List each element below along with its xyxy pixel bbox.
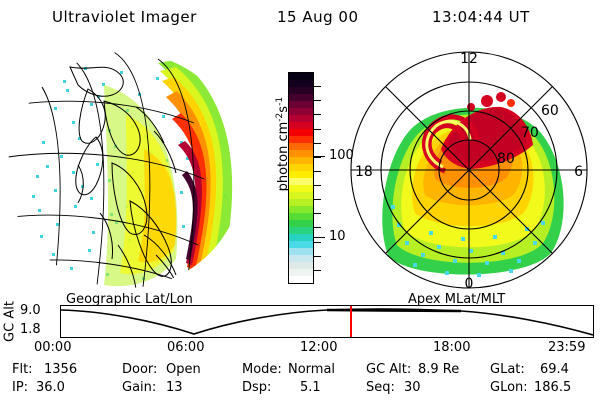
colorbar-minor-tick-12 [314,242,321,243]
colorbar-minor-tick-14 [314,270,321,271]
colorbar-band-10 [289,143,313,150]
colorbar-band-25 [289,248,313,255]
observation-date: 15 Aug 00 [277,8,359,26]
status-seq-value: 30 [404,380,421,395]
colorbar-minor-tick-9 [314,199,321,200]
status-mode-label: Mode: [242,362,282,377]
status-dsp-label: Dsp: [242,380,271,395]
status-glat-label: GLat: [490,362,525,377]
colorbar-panel: photon cm-2s-1 100 10 [252,68,347,300]
svg-text:12: 12 [460,51,478,67]
colorbar-band-1 [289,80,313,87]
colorbar-band-20 [289,213,313,220]
colorbar-band-12 [289,157,313,164]
status-bar: Flt: 1356 IP: 36.0 Door: Open Gain: 13 M… [0,362,600,400]
colorbar-band-28 [289,269,313,276]
colorbar-band-17 [289,192,313,199]
colorbar-band-19 [289,206,313,213]
status-flt-label: Flt: [12,362,33,377]
colorbar-band-5 [289,108,313,115]
colorbar-band-27 [289,262,313,269]
colorbar-minor-tick-13 [314,256,321,257]
colorbar-minor-tick-3 [314,114,321,115]
polar-plot: 12 18 6 0 60 70 80 [345,45,593,295]
colorbar-band-26 [289,255,313,262]
orbit-xtick-0: 00:00 [34,340,71,355]
status-gcalt-value: 8.9 Re [418,362,459,377]
status-flt-value: 1356 [44,362,77,377]
colorbar-band-11 [289,150,313,157]
colorbar-minor-tick-1 [314,86,321,87]
header-bar: Ultraviolet Imager 15 Aug 00 13:04:44 UT [0,8,600,32]
status-glat-value: 69.4 [540,362,569,377]
svg-text:60: 60 [541,103,559,119]
orbit-xtick-3: 18:00 [433,340,470,355]
colorbar-band-8 [289,129,313,136]
apex-polar-panel[interactable]: 12 18 6 0 60 70 80 [345,45,593,295]
colorbar-minor-tick-10 [314,213,321,214]
svg-text:0: 0 [465,276,474,292]
status-dsp-value: 5.1 [300,380,321,395]
orbit-trace [61,306,593,337]
colorbar-tick-10-mark [314,237,325,238]
orbit-ytick-high: 9.0 [20,303,41,318]
status-ip-value: 36.0 [36,380,65,395]
status-door-value: Open [166,362,201,377]
orbit-xtick-1: 06:00 [167,340,204,355]
colorbar-tick-10: 10 [329,229,346,244]
globe-image [8,45,253,295]
colorbar-band-13 [289,164,313,171]
colorbar-band-18 [289,199,313,206]
orbit-ytick-low: 1.8 [20,322,41,337]
geographic-image-panel[interactable] [8,45,253,295]
svg-text:6: 6 [574,164,583,180]
colorbar-minor-tick-11 [314,227,321,228]
status-gain-value: 13 [166,380,183,395]
colorbar-band-24 [289,241,313,248]
colorbar-minor-tick-8 [314,185,321,186]
colorbar-band-9 [289,136,313,143]
status-glon-value: 186.5 [534,380,571,395]
colorbar-minor-tick-2 [314,100,321,101]
orbit-y-axis-label: GC Alt [2,300,18,344]
colorbar-minor-tick-6 [314,157,321,158]
colorbar-minor-tick-5 [314,143,321,144]
status-door-label: Door: [122,362,157,377]
svg-text:18: 18 [355,164,373,180]
colorbar-band-16 [289,185,313,192]
svg-text:80: 80 [497,151,515,167]
colorbar-band-7 [289,122,313,129]
colorbar-band-21 [289,220,313,227]
colorbar-band-23 [289,234,313,241]
colorbar-minor-tick-7 [314,171,321,172]
instrument-title: Ultraviolet Imager [52,8,197,26]
colorbar-gradient [288,72,314,284]
colorbar-band-0 [289,73,313,80]
status-gain-label: Gain: [122,380,156,395]
colorbar-band-22 [289,227,313,234]
observation-time: 13:04:44 UT [432,8,530,26]
orbit-xtick-4: 23:59 [548,340,585,355]
colorbar-band-29 [289,276,313,283]
status-ip-label: IP: [12,380,28,395]
status-gcalt-label: GC Alt: [366,362,411,377]
colorbar-band-2 [289,87,313,94]
svg-text:70: 70 [521,125,539,141]
colorbar-band-4 [289,101,313,108]
colorbar-band-15 [289,178,313,185]
status-glon-label: GLon: [490,380,528,395]
colorbar-band-6 [289,115,313,122]
polar-grid [351,52,587,288]
status-seq-label: Seq: [366,380,395,395]
orbit-plot-box [60,305,594,338]
colorbar-band-3 [289,94,313,101]
status-mode-value: Normal [288,362,335,377]
colorbar-band-14 [289,171,313,178]
orbit-xtick-2: 12:00 [300,340,337,355]
colorbar-minor-tick-4 [314,129,321,130]
